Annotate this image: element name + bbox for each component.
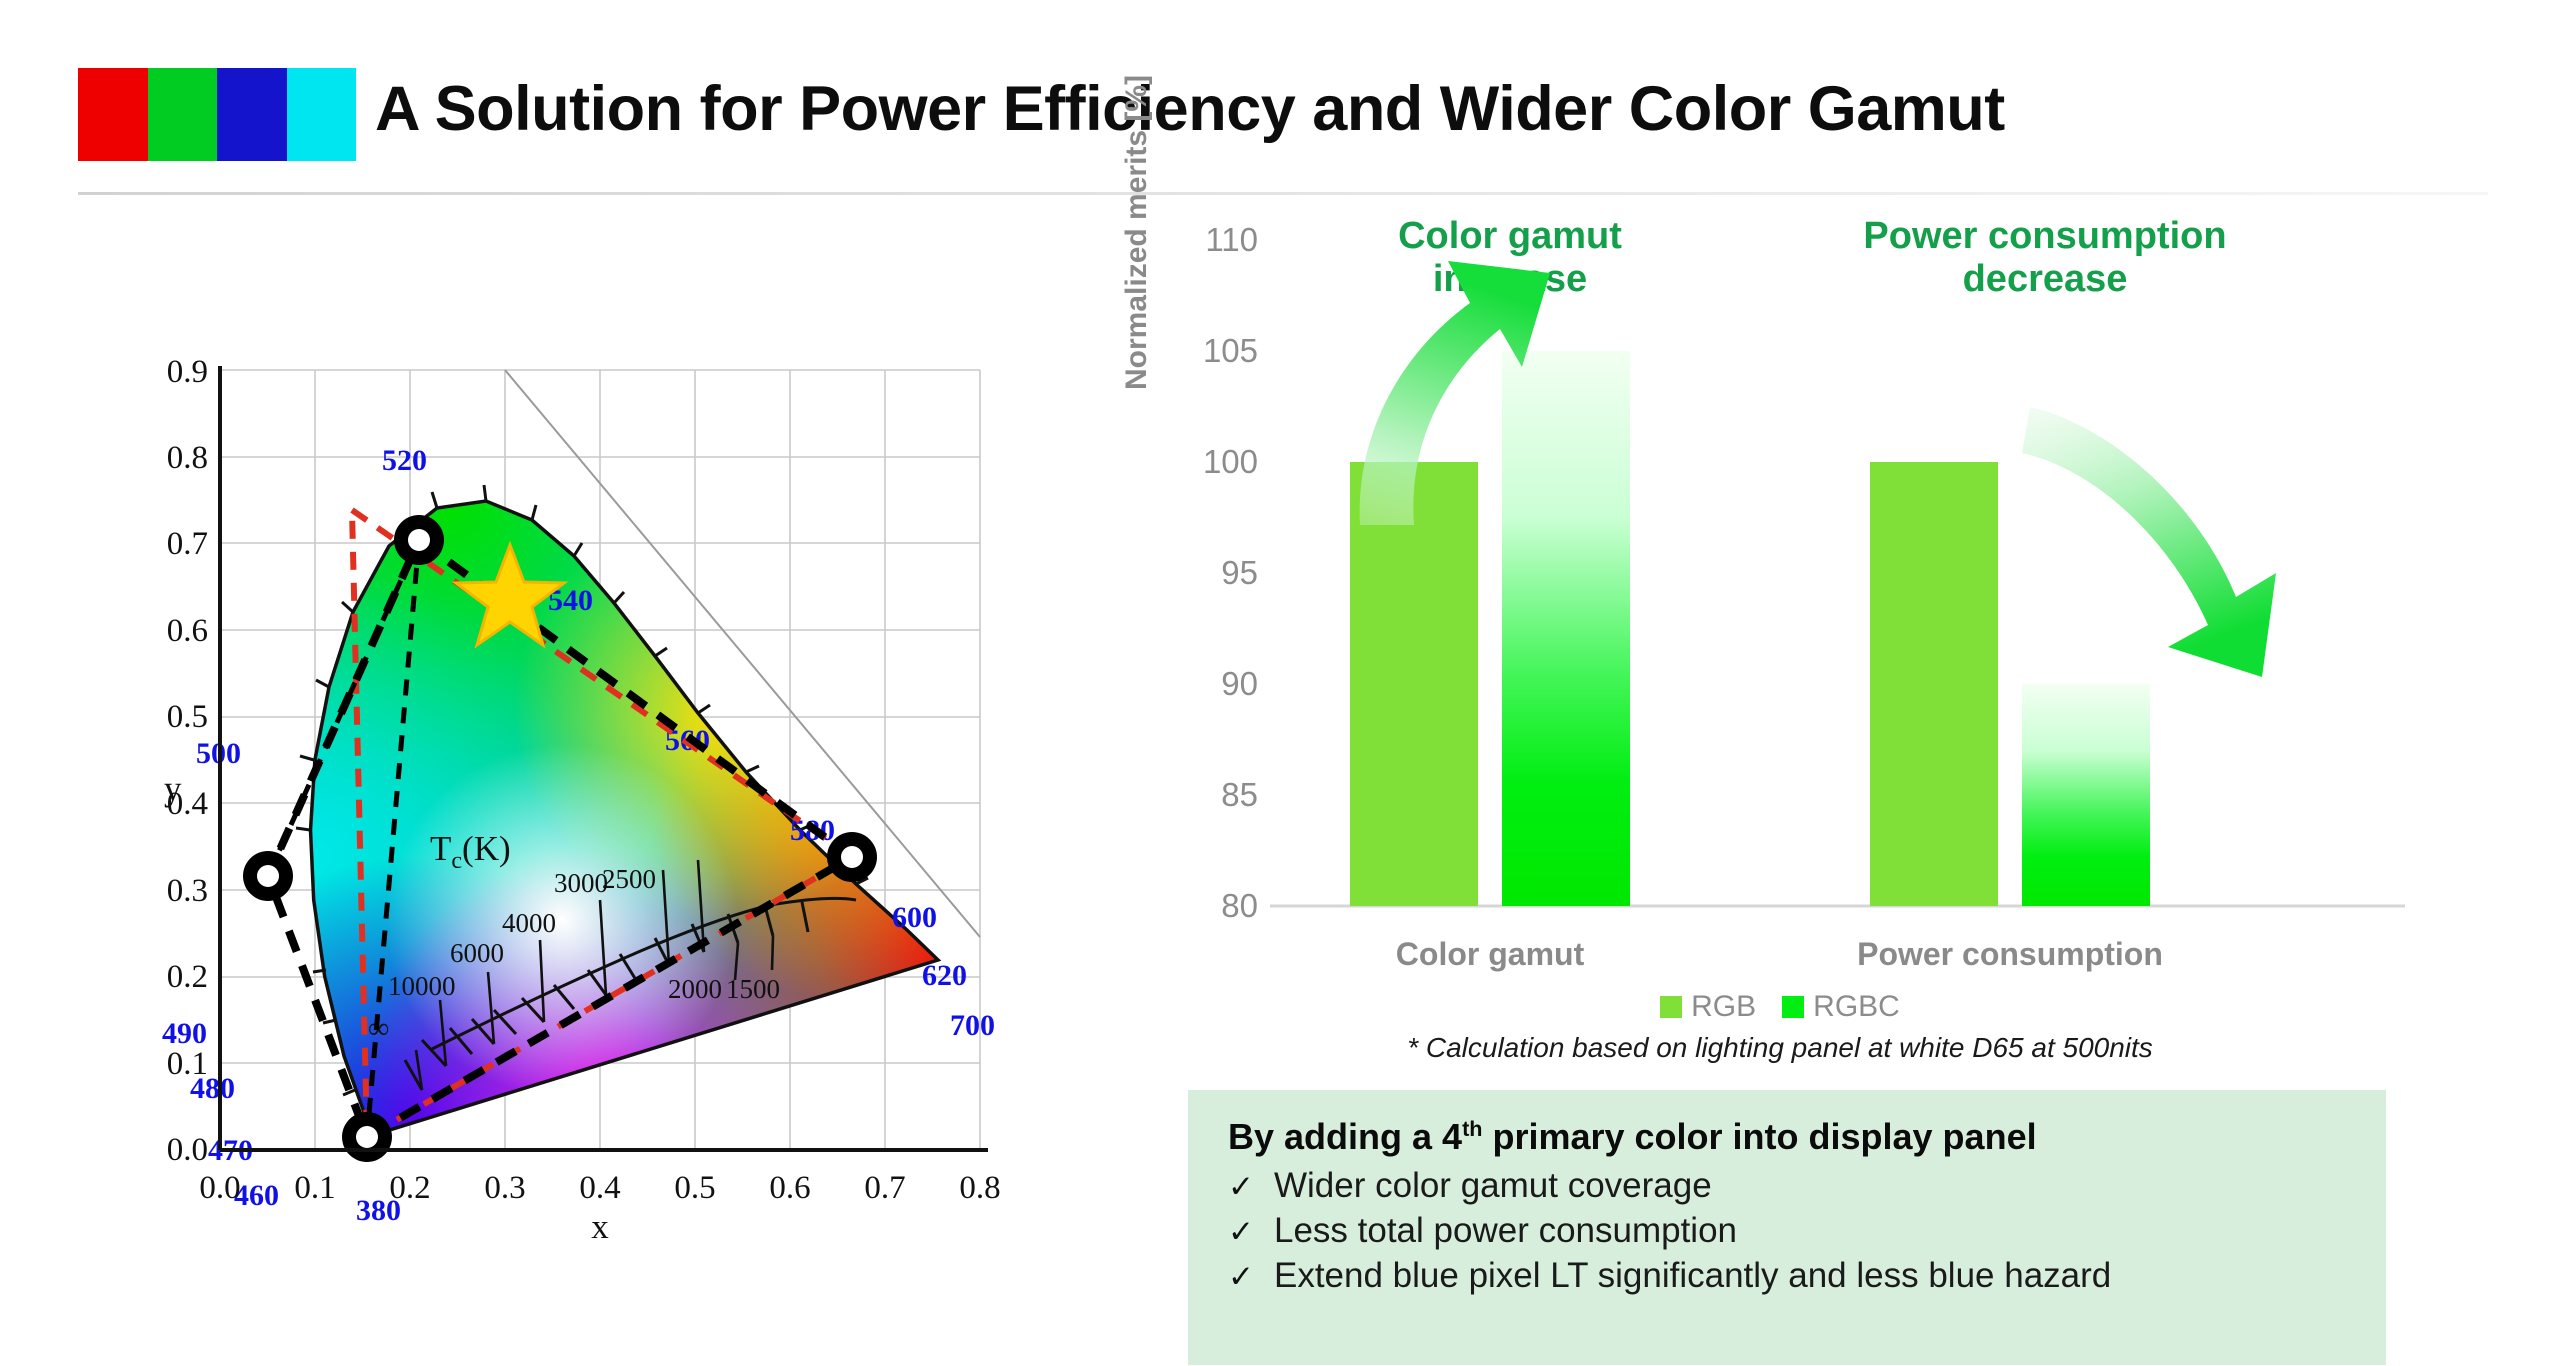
svg-text:0.6: 0.6 bbox=[769, 1170, 810, 1206]
svg-text:0.3: 0.3 bbox=[484, 1170, 525, 1206]
svg-text:0.9: 0.9 bbox=[167, 360, 208, 390]
bar-color-gamut-rgb bbox=[1350, 462, 1478, 906]
summary-panel-heading: By adding a 4th primary color into displ… bbox=[1228, 1116, 2346, 1158]
svg-text:0.0: 0.0 bbox=[167, 1132, 208, 1168]
normalized-merits-bar-chart: 110 105 100 95 90 85 80 Color gamut Powe… bbox=[1150, 225, 2410, 925]
summary-heading-ordinal: th bbox=[1462, 1116, 1482, 1141]
svg-text:2000: 2000 bbox=[668, 974, 722, 1004]
svg-text:620: 620 bbox=[922, 959, 967, 992]
svg-text:1500: 1500 bbox=[726, 974, 780, 1004]
cie-x-axis-label: x bbox=[591, 1207, 609, 1240]
legend-chip-rgbc bbox=[1782, 996, 1804, 1018]
red-swatch bbox=[78, 68, 148, 161]
legend-label-rgbc: RGBC bbox=[1813, 990, 1900, 1024]
svg-text:0.8: 0.8 bbox=[167, 440, 208, 476]
cie-chromaticity-diagram: 520 540 560 580 600 620 700 500 490 480 … bbox=[150, 360, 1030, 1240]
svg-text:0.2: 0.2 bbox=[389, 1170, 430, 1206]
summary-heading-post: primary color into display panel bbox=[1482, 1116, 2036, 1157]
cie-y-axis-label: y bbox=[164, 769, 182, 808]
bar-power-consumption-rgb bbox=[1870, 462, 1998, 906]
svg-text:460: 460 bbox=[234, 1179, 279, 1212]
list-item-label: Extend blue pixel LT significantly and l… bbox=[1274, 1254, 2111, 1299]
decrease-arrow-icon bbox=[2022, 407, 2276, 677]
chart-y-axis-title: Normalized merits [%] bbox=[1120, 75, 1154, 390]
svg-text:3000: 3000 bbox=[554, 868, 608, 898]
svg-text:80: 80 bbox=[1221, 887, 1258, 924]
svg-text:110: 110 bbox=[1205, 225, 1258, 258]
svg-text:10000: 10000 bbox=[388, 971, 456, 1001]
chart-y-tick-labels: 110 105 100 95 90 85 80 bbox=[1203, 225, 1258, 924]
check-icon: ✓ bbox=[1228, 1167, 1254, 1207]
svg-text:6000: 6000 bbox=[450, 938, 504, 968]
svg-text:0.5: 0.5 bbox=[167, 699, 208, 735]
cie-x-tick-labels: 0.0 0.1 0.2 0.3 0.4 0.5 0.6 0.7 0.8 bbox=[199, 1170, 1000, 1206]
svg-text:90: 90 bbox=[1221, 665, 1258, 702]
chart-legend: RGB RGBC bbox=[1150, 990, 2410, 1024]
summary-panel: By adding a 4th primary color into displ… bbox=[1188, 1090, 2386, 1365]
legend-label-rgb: RGB bbox=[1691, 990, 1756, 1024]
list-item-label: Less total power consumption bbox=[1274, 1209, 1737, 1254]
chart-category-labels: Color gamut Power consumption bbox=[1396, 936, 2163, 972]
svg-text:0.8: 0.8 bbox=[959, 1170, 1000, 1206]
rgbc-swatch-group bbox=[78, 68, 356, 161]
check-icon: ✓ bbox=[1228, 1212, 1254, 1252]
check-icon: ✓ bbox=[1228, 1257, 1254, 1297]
list-item: ✓ Wider color gamut coverage bbox=[1228, 1164, 2346, 1209]
svg-text:105: 105 bbox=[1203, 332, 1258, 369]
svg-text:600: 600 bbox=[892, 901, 937, 934]
temperature-caption: Tc(K) bbox=[430, 829, 511, 874]
svg-text:95: 95 bbox=[1221, 554, 1258, 591]
green-swatch bbox=[148, 68, 218, 161]
summary-heading-pre: By adding a 4 bbox=[1228, 1116, 1462, 1157]
svg-text:0.0: 0.0 bbox=[199, 1170, 240, 1206]
svg-text:0.4: 0.4 bbox=[579, 1170, 620, 1206]
list-item: ✓ Less total power consumption bbox=[1228, 1209, 2346, 1254]
chart-footnote: * Calculation based on lighting panel at… bbox=[1150, 1032, 2410, 1064]
svg-text:0.1: 0.1 bbox=[294, 1170, 335, 1206]
legend-item-rgb: RGB bbox=[1660, 990, 1756, 1024]
svg-text:85: 85 bbox=[1221, 776, 1258, 813]
summary-bullet-list: ✓ Wider color gamut coverage ✓ Less tota… bbox=[1228, 1164, 2346, 1298]
blue-swatch bbox=[217, 68, 287, 161]
svg-text:2500: 2500 bbox=[602, 864, 656, 894]
svg-text:100: 100 bbox=[1203, 443, 1258, 480]
svg-text:0.7: 0.7 bbox=[167, 526, 208, 562]
list-item: ✓ Extend blue pixel LT significantly and… bbox=[1228, 1254, 2346, 1299]
list-item-label: Wider color gamut coverage bbox=[1274, 1164, 1712, 1209]
bar-power-consumption-rgbc bbox=[2022, 684, 2150, 906]
svg-text:0.1: 0.1 bbox=[167, 1046, 208, 1082]
category-label-power-consumption: Power consumption bbox=[1857, 936, 2163, 972]
svg-text:520: 520 bbox=[382, 444, 427, 477]
svg-text:0.2: 0.2 bbox=[167, 959, 208, 995]
slide-header: A Solution for Power Efficiency and Wide… bbox=[0, 0, 2560, 195]
legend-item-rgbc: RGBC bbox=[1782, 990, 1900, 1024]
svg-text:0.6: 0.6 bbox=[167, 613, 208, 649]
svg-text:0.7: 0.7 bbox=[864, 1170, 905, 1206]
page-title: A Solution for Power Efficiency and Wide… bbox=[375, 73, 2005, 145]
bar-color-gamut-rgbc bbox=[1502, 351, 1630, 906]
svg-text:0.3: 0.3 bbox=[167, 873, 208, 909]
title-divider bbox=[78, 192, 2488, 195]
svg-text:0.5: 0.5 bbox=[674, 1170, 715, 1206]
svg-text:4000: 4000 bbox=[502, 908, 556, 938]
category-label-color-gamut: Color gamut bbox=[1396, 936, 1585, 972]
svg-text:700: 700 bbox=[950, 1009, 995, 1042]
cyan-swatch bbox=[287, 68, 357, 161]
legend-chip-rgb bbox=[1660, 996, 1682, 1018]
